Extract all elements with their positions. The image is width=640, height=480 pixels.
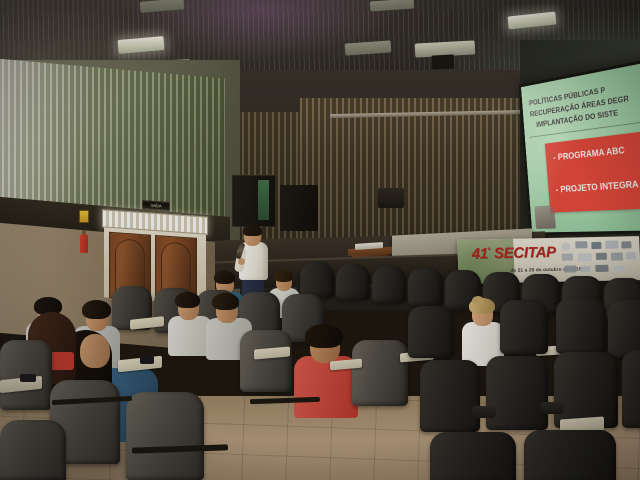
av-cabinet	[280, 185, 318, 231]
bullet-marker: -	[553, 153, 556, 163]
stage-curtain	[300, 98, 530, 248]
smartphone[interactable]	[140, 356, 154, 364]
slide-bullet-label: PROGRAMA ABC	[558, 146, 626, 163]
audience-head	[80, 334, 110, 368]
auditorium-seat[interactable]	[430, 432, 516, 480]
audience-hair	[274, 270, 293, 282]
sponsor-logo	[595, 265, 608, 272]
slide-bullet: -PROJETO INTEGRA	[555, 177, 640, 197]
auditorium-seat[interactable]	[408, 306, 454, 358]
auditorium-seat[interactable]	[372, 266, 406, 303]
auditorium-seat[interactable]	[420, 360, 480, 432]
auditorium-seat[interactable]	[126, 392, 204, 480]
seat-armrest	[472, 406, 496, 418]
slide-highlight-box: -PROGRAMA ABC -PROJETO INTEGRA	[545, 128, 640, 213]
presenter-hand	[238, 258, 245, 265]
smartphone[interactable]	[20, 374, 36, 382]
sponsor-logo	[621, 241, 631, 248]
auditorium-seat[interactable]	[554, 352, 618, 428]
wall-speaker	[378, 188, 404, 208]
fire-extinguisher	[80, 234, 88, 253]
sponsor-logo	[564, 265, 576, 272]
banner-ordinal: ª	[487, 247, 490, 254]
bullet-marker: -	[555, 186, 558, 196]
audience-hair	[305, 324, 343, 348]
slide-bullet-label: PROJETO INTEGRA	[560, 180, 639, 196]
auditorium-seat[interactable]	[300, 262, 334, 298]
auditorium-seat[interactable]	[500, 300, 548, 354]
auditorium-seat[interactable]	[352, 340, 408, 406]
audience-hair	[82, 300, 111, 319]
auditorium-seat[interactable]	[0, 420, 66, 480]
sponsor-logo	[575, 241, 587, 248]
audience-hair-bun	[472, 296, 484, 305]
sponsor-logo	[578, 253, 592, 261]
sponsor-logo	[561, 243, 570, 251]
audience-hair	[175, 292, 200, 308]
auditorium-seat[interactable]	[240, 330, 292, 392]
presenter-hair	[243, 225, 262, 236]
slide-bullet: -PROGRAMA ABC	[553, 140, 640, 165]
auditorium-seat[interactable]	[556, 298, 606, 354]
sponsor-logo	[613, 265, 624, 271]
sponsor-logo	[611, 252, 623, 260]
banner-title: 41ª SECITAP	[471, 244, 556, 263]
auditorium-photo: POLÍTICAS PÚBLICAS P RECUPERAÇÃO ÁREAS D…	[0, 0, 640, 480]
sponsor-logo	[562, 254, 573, 261]
sponsor-logo	[626, 252, 636, 259]
projection-screen: POLÍTICAS PÚBLICAS P RECUPERAÇÃO ÁREAS D…	[519, 59, 640, 235]
projection-screen-surface: POLÍTICAS PÚBLICAS P RECUPERAÇÃO ÁREAS D…	[521, 62, 640, 232]
audience-hair	[214, 271, 235, 284]
banner-event-number: 41	[471, 245, 488, 262]
auditorium-seat[interactable]	[524, 430, 616, 480]
sponsor-logo	[605, 241, 618, 249]
banner-event-name: SECITAP	[494, 244, 557, 262]
av-panel-indicator	[258, 180, 269, 220]
screen-foreground-obstruction	[534, 205, 556, 229]
ceiling-mount-bracket	[432, 54, 455, 69]
auditorium-seat[interactable]	[486, 356, 548, 430]
auditorium-seat[interactable]	[336, 264, 370, 300]
exit-sign: SAÍDA	[142, 200, 170, 211]
audience-hair	[212, 293, 239, 310]
sponsor-logo	[580, 266, 590, 272]
auditorium-seat[interactable]	[408, 268, 443, 306]
auditorium-seat[interactable]	[622, 350, 640, 428]
exit-sign-label: SAÍDA	[143, 201, 169, 210]
seat-armrest	[540, 402, 564, 414]
fire-extinguisher-sign	[79, 210, 89, 223]
av-cabinet	[232, 175, 276, 227]
sponsor-logo	[596, 253, 607, 260]
sponsor-logo	[591, 242, 601, 249]
